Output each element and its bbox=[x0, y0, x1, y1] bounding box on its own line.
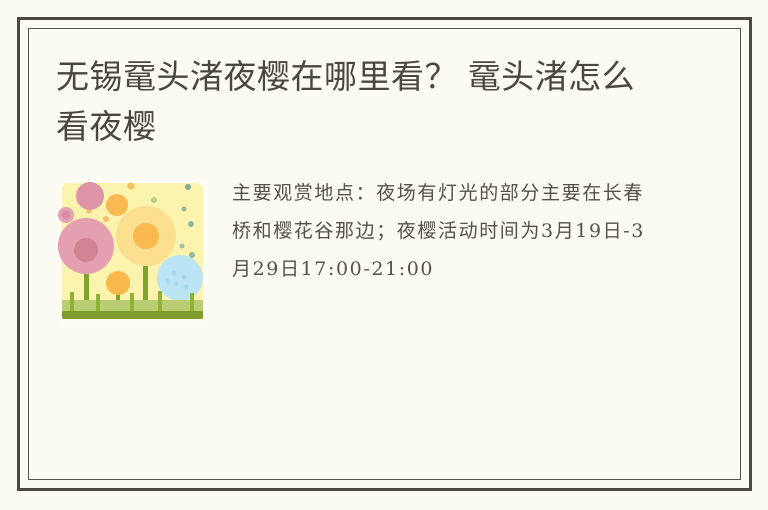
article-title: 无锡鼋头渚夜樱在哪里看？ 鼋头渚怎么看夜樱 bbox=[56, 52, 656, 152]
article-body-text: 主要观赏地点：夜场有灯光的部分主要在长春桥和樱花谷那边；夜樱活动时间为3月19日… bbox=[232, 174, 662, 288]
page-root: 无锡鼋头渚夜樱在哪里看？ 鼋头渚怎么看夜樱 bbox=[0, 0, 768, 510]
article-body: 主要观赏地点：夜场有灯光的部分主要在长春桥和樱花谷那边；夜樱活动时间为3月19日… bbox=[56, 174, 696, 334]
flower-garden-illustration bbox=[58, 178, 208, 328]
article-content: 无锡鼋头渚夜樱在哪里看？ 鼋头渚怎么看夜樱 bbox=[56, 52, 696, 334]
